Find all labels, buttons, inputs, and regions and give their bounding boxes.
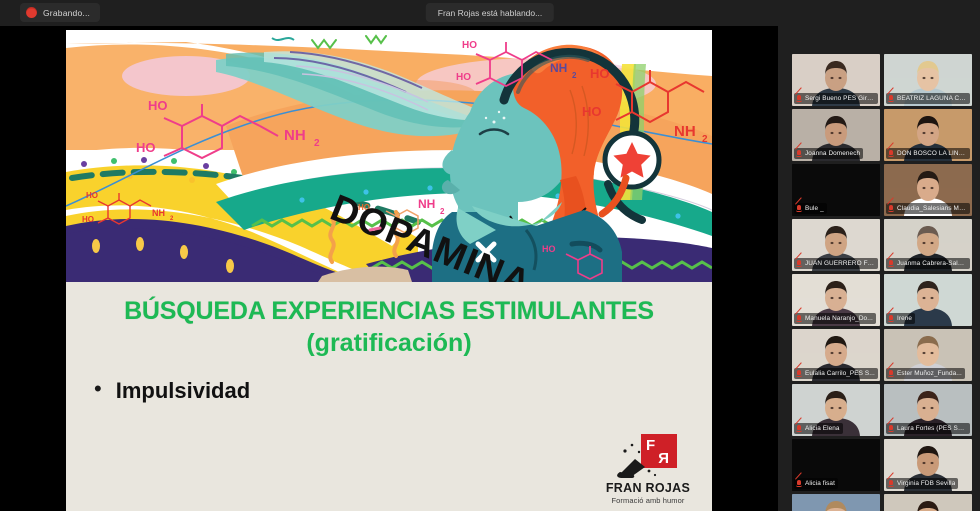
participant-silhouette <box>884 494 972 511</box>
participant-name-label: Eulalia Carrilo_PES S... <box>805 370 875 377</box>
participant-grid: Sergi Bueno PES Giro...BEATRIZ LAGUNA CO… <box>792 54 976 511</box>
record-dot-icon <box>26 7 37 18</box>
participant-tile[interactable]: Mercedes FDB SEVILLA <box>792 494 880 511</box>
dopamine-illustration: HO HO NH 2 HO HO <box>66 30 712 282</box>
participant-tile[interactable]: Laura Fortes (PES San... <box>884 384 972 436</box>
participant-name-badge: BEATRIZ LAGUNA CO... <box>886 93 970 104</box>
participant-name-label: BEATRIZ LAGUNA CO... <box>897 95 967 102</box>
participant-tile[interactable]: Claudia_Salesians Ma... <box>884 164 972 216</box>
meeting-top-bar: Grabando... Fran Rojas está hablando... <box>0 0 980 26</box>
participant-tile[interactable]: Sergi Bueno PES Giro... <box>792 54 880 106</box>
participant-tile[interactable]: Manuela Naranjo_Do... <box>792 274 880 326</box>
microphone-muted-icon <box>888 370 894 378</box>
recording-indicator[interactable]: Grabando... <box>20 3 100 22</box>
participant-tile[interactable]: Eulalia Carrilo_PES S... <box>792 329 880 381</box>
participant-tile[interactable]: Esa Glez (Tenerife) <box>884 494 972 511</box>
participant-name-label: Manuela Naranjo_Do... <box>805 315 873 322</box>
svg-text:HO: HO <box>86 191 98 200</box>
shared-screen-stage: HO HO NH 2 HO HO <box>0 26 778 511</box>
svg-text:2: 2 <box>314 138 320 149</box>
participant-tile[interactable]: Virginia FDB Sevilla <box>884 439 972 491</box>
microphone-muted-icon <box>796 150 802 158</box>
participant-tile[interactable]: Ester Muñoz_Funda... <box>884 329 972 381</box>
participant-name-label: Bule _ <box>805 205 824 212</box>
svg-text:HO: HO <box>456 72 471 83</box>
microphone-muted-icon <box>888 150 894 158</box>
microphone-muted-icon <box>796 425 802 433</box>
participant-name-badge: Claudia_Salesians Ma... <box>886 203 970 214</box>
recording-label: Grabando... <box>43 8 90 18</box>
participant-name-label: Laura Fortes (PES San... <box>897 425 967 432</box>
participant-name-badge: Alicia Elena <box>794 423 843 434</box>
participant-tile[interactable]: Irene <box>884 274 972 326</box>
participant-name-badge: JUAN GUERRERO FD... <box>794 258 878 269</box>
participant-rail[interactable]: Sergi Bueno PES Giro...BEATRIZ LAGUNA CO… <box>778 26 980 511</box>
microphone-muted-icon <box>796 205 802 213</box>
participant-name-badge: Irene <box>886 313 915 324</box>
microphone-muted-icon <box>796 370 802 378</box>
participant-name-label: Alicia Elena <box>805 425 840 432</box>
illustration-artwork: HO HO NH 2 HO HO <box>66 30 712 282</box>
participant-tile[interactable]: Alicia fisat <box>792 439 880 491</box>
microphone-muted-icon <box>796 95 802 103</box>
microphone-muted-icon <box>888 260 894 268</box>
slide-subtitle: (gratificación) <box>66 330 712 357</box>
participant-name-label: JUAN GUERRERO FD... <box>805 260 875 267</box>
participant-name-badge: DON BOSCO LA LINEA <box>886 148 970 159</box>
participant-name-badge: Laura Fortes (PES San... <box>886 423 970 434</box>
svg-text:2: 2 <box>440 207 445 216</box>
participant-silhouette <box>792 494 880 511</box>
participant-name-badge: Sergi Bueno PES Giro... <box>794 93 878 104</box>
participant-tile[interactable]: DON BOSCO LA LINEA <box>884 109 972 161</box>
participant-name-label: Ester Muñoz_Funda... <box>897 370 962 377</box>
participant-name-label: Juanma Cabrera-Sale... <box>897 260 967 267</box>
svg-text:R: R <box>658 450 669 467</box>
microphone-muted-icon <box>796 315 802 323</box>
participant-name-label: Sergi Bueno PES Giro... <box>805 95 875 102</box>
active-speaker-label: Fran Rojas está hablando... <box>438 8 542 18</box>
active-speaker-indicator: Fran Rojas está hablando... <box>426 3 554 22</box>
bullet-marker-icon: • <box>94 378 102 400</box>
svg-text:NH: NH <box>152 208 165 218</box>
participant-name-label: DON BOSCO LA LINEA <box>897 150 967 157</box>
participant-name-badge: Ester Muñoz_Funda... <box>886 368 965 379</box>
svg-text:HO: HO <box>82 215 94 224</box>
svg-text:HO: HO <box>582 104 602 119</box>
logo-brand-name: FRAN ROJAS <box>606 481 690 495</box>
svg-text:HO: HO <box>590 66 610 81</box>
participant-tile[interactable]: Bule _ <box>792 164 880 216</box>
zoom-meeting-window: Grabando... Fran Rojas está hablando... <box>0 0 980 511</box>
presentation-slide: HO HO NH 2 HO HO <box>66 30 712 511</box>
participant-name-badge: Virginia FDB Sevilla <box>886 478 958 489</box>
participant-name-label: Joanna Domenech <box>805 150 860 157</box>
microphone-muted-icon <box>888 95 894 103</box>
microphone-muted-icon <box>888 315 894 323</box>
participant-name-badge: Alicia fisat <box>794 478 838 489</box>
participant-tile[interactable]: BEATRIZ LAGUNA CO... <box>884 54 972 106</box>
svg-text:NH: NH <box>550 61 567 75</box>
svg-text:HO: HO <box>148 98 168 113</box>
svg-text:F: F <box>646 437 655 454</box>
participant-name-label: Claudia_Salesians Ma... <box>897 205 967 212</box>
participant-tile[interactable]: Juanma Cabrera-Sale... <box>884 219 972 271</box>
microphone-muted-icon <box>888 425 894 433</box>
svg-text:HO: HO <box>462 40 477 51</box>
svg-text:NH: NH <box>284 127 306 144</box>
svg-text:2: 2 <box>702 134 708 145</box>
svg-text:HO: HO <box>542 244 556 254</box>
slide-title: BÚSQUEDA EXPERIENCIAS ESTIMULANTES <box>66 298 712 325</box>
svg-text:2: 2 <box>572 71 577 80</box>
participant-name-badge: Joanna Domenech <box>794 148 863 159</box>
svg-text:HO: HO <box>136 140 156 155</box>
participant-name-badge: Bule _ <box>794 203 827 214</box>
participant-tile[interactable]: JUAN GUERRERO FD... <box>792 219 880 271</box>
participant-tile[interactable]: Alicia Elena <box>792 384 880 436</box>
logo-tagline: Formació amb humor <box>611 496 684 505</box>
participant-name-badge: Manuela Naranjo_Do... <box>794 313 876 324</box>
microphone-muted-icon <box>796 480 802 488</box>
slide-bullet-text: Impulsividad <box>116 378 250 404</box>
fran-rojas-logo-mark: F R <box>615 433 681 479</box>
svg-text:NH: NH <box>418 197 435 211</box>
participant-name-label: Virginia FDB Sevilla <box>897 480 955 487</box>
presenter-logo: F R FRAN ROJAS Formació amb humor <box>596 427 700 505</box>
microphone-muted-icon <box>888 205 894 213</box>
participant-name-label: Alicia fisat <box>805 480 835 487</box>
participant-name-badge: Juanma Cabrera-Sale... <box>886 258 970 269</box>
participant-name-label: Irene <box>897 315 912 322</box>
logo-artwork: F R <box>615 433 681 479</box>
microphone-muted-icon <box>796 260 802 268</box>
slide-bullet: • Impulsividad <box>94 378 654 404</box>
svg-text:NH: NH <box>674 123 696 140</box>
participant-tile[interactable]: Joanna Domenech <box>792 109 880 161</box>
participant-name-badge: Eulalia Carrilo_PES S... <box>794 368 878 379</box>
microphone-muted-icon <box>888 480 894 488</box>
